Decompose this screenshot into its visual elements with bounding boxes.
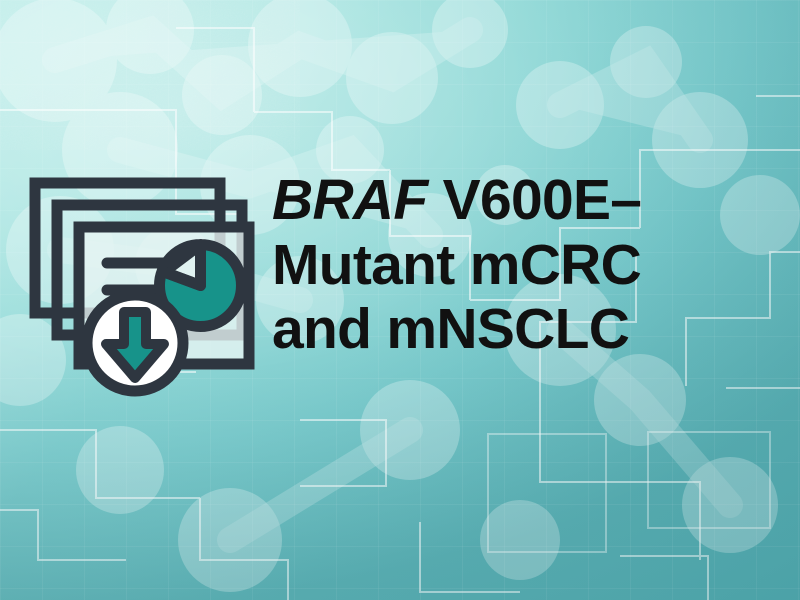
headline-line-1-rest: V600E– xyxy=(428,168,642,232)
promo-banner: BRAF V600E– Mutant mCRC and mNSCLC xyxy=(0,0,800,600)
banner-headline: BRAF V600E– Mutant mCRC and mNSCLC xyxy=(272,168,772,362)
headline-line-1: BRAF V600E– xyxy=(272,168,772,233)
gene-name: BRAF xyxy=(272,168,428,232)
headline-line-3: and mNSCLC xyxy=(272,297,772,362)
headline-line-2: Mutant mCRC xyxy=(272,233,772,298)
download-badge xyxy=(87,295,183,391)
download-slides-icon-graphic xyxy=(28,176,256,400)
banner-content: BRAF V600E– Mutant mCRC and mNSCLC xyxy=(0,0,800,600)
download-slides-icon[interactable] xyxy=(28,176,256,400)
